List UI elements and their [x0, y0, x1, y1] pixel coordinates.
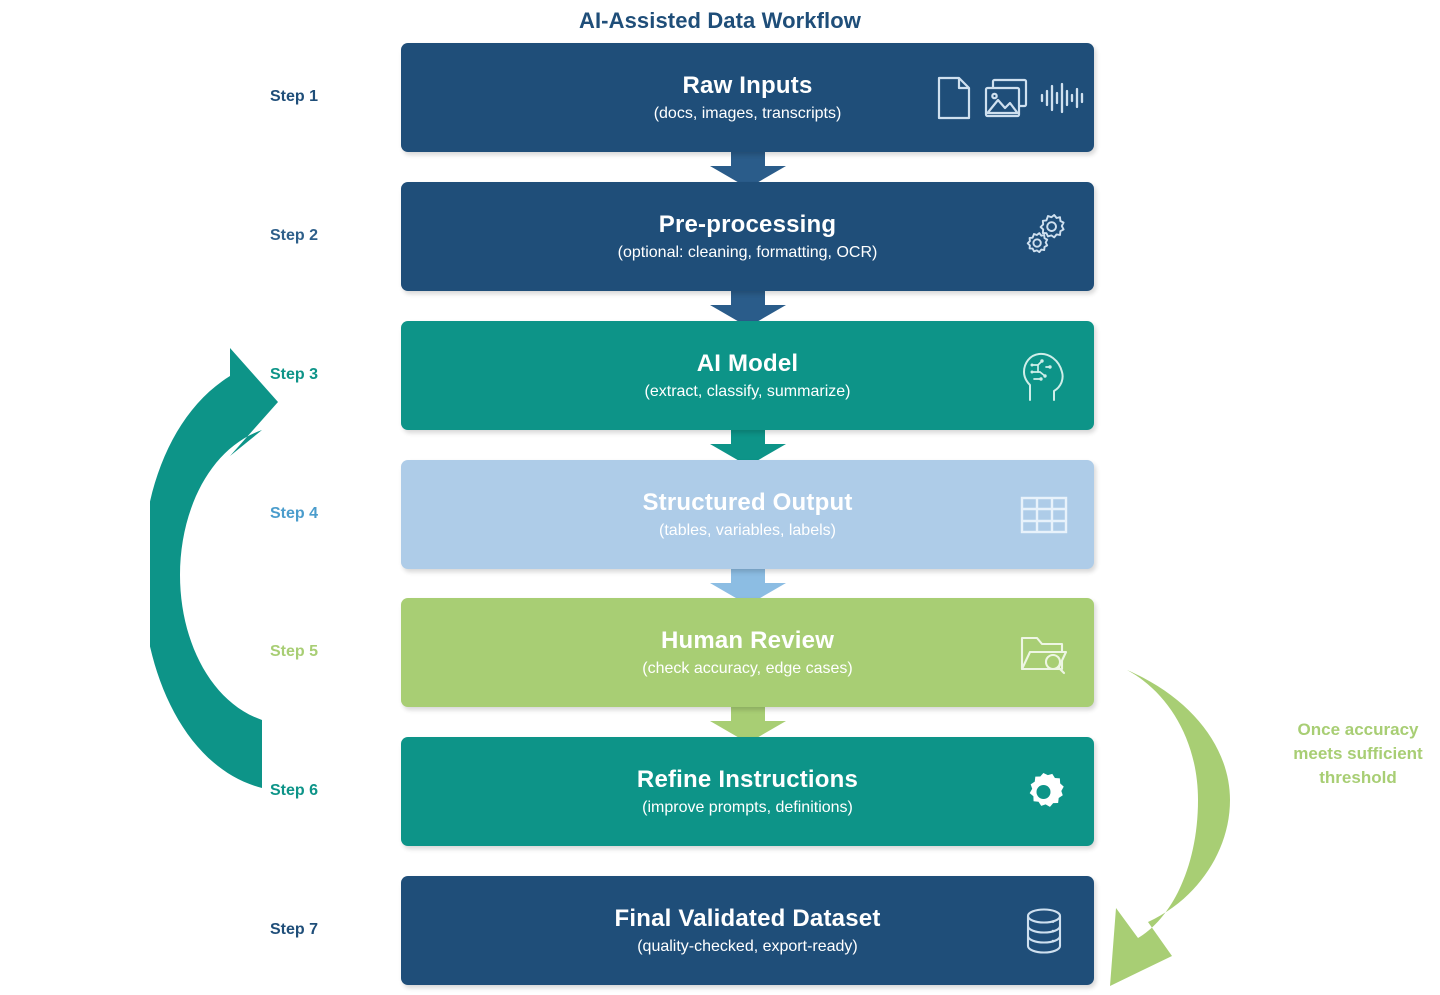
stage-box-human-review[interactable]: Human Review (check accuracy, edge cases…	[401, 598, 1094, 707]
step-label-2: Step 2	[232, 227, 356, 245]
stage-subtitle: (quality-checked, export-ready)	[437, 936, 1058, 958]
stage-subtitle: (extract, classify, summarize)	[437, 381, 1058, 403]
step-label-7: Step 7	[232, 921, 356, 939]
stage-box-pre-processing[interactable]: Pre-processing (optional: cleaning, form…	[401, 182, 1094, 291]
gears-icon	[1018, 211, 1070, 263]
stage-title: Structured Output	[437, 488, 1058, 518]
stage-box-raw-inputs[interactable]: Raw Inputs (docs, images, transcripts)	[401, 43, 1094, 152]
stage-title: Refine Instructions	[437, 765, 1058, 795]
document-icon	[936, 76, 972, 120]
stage-text-block: Structured Output (tables, variables, la…	[401, 488, 1094, 542]
table-grid-icon	[1020, 495, 1068, 535]
stage-subtitle: (optional: cleaning, formatting, OCR)	[437, 242, 1058, 264]
stage-icon-group	[1016, 209, 1072, 265]
stage-text-block: Refine Instructions (improve prompts, de…	[401, 765, 1094, 819]
page-title: AI-Assisted Data Workflow	[0, 8, 1440, 34]
stage-subtitle: (check accuracy, edge cases)	[437, 658, 1058, 680]
stage-subtitle: (tables, variables, labels)	[437, 520, 1058, 542]
stage-text-block: Final Validated Dataset (quality-checked…	[401, 904, 1094, 958]
images-stack-icon	[983, 77, 1029, 119]
gear-solid-icon	[1023, 771, 1065, 813]
diagram-canvas: AI-Assisted Data Workflow Step 1 Step 2 …	[0, 0, 1440, 987]
stage-icon-group	[1016, 625, 1072, 681]
stage-icon-group	[936, 70, 1084, 126]
step-label-1: Step 1	[232, 88, 356, 106]
completion-loop-arrow-shape	[1110, 600, 1275, 995]
stage-icon-group	[1016, 348, 1072, 404]
stage-title: AI Model	[437, 349, 1058, 379]
audio-waveform-icon	[1040, 82, 1084, 114]
stage-box-final-dataset[interactable]: Final Validated Dataset (quality-checked…	[401, 876, 1094, 985]
folder-search-icon	[1019, 630, 1069, 676]
database-icon	[1024, 907, 1064, 955]
stage-icon-group	[1016, 764, 1072, 820]
stage-box-ai-model[interactable]: AI Model (extract, classify, summarize)	[401, 321, 1094, 430]
feedback-loop-arrow	[150, 340, 280, 815]
ai-head-icon	[1020, 350, 1068, 402]
stage-icon-group	[1016, 487, 1072, 543]
stage-subtitle: (improve prompts, definitions)	[437, 797, 1058, 819]
stage-text-block: AI Model (extract, classify, summarize)	[401, 349, 1094, 403]
stage-text-block: Human Review (check accuracy, edge cases…	[401, 626, 1094, 680]
completion-loop-caption: Once accuracy meets sufficient threshold	[1284, 718, 1432, 790]
stage-icon-group	[1016, 903, 1072, 959]
stage-title: Final Validated Dataset	[437, 904, 1058, 934]
stage-text-block: Pre-processing (optional: cleaning, form…	[401, 210, 1094, 264]
stage-box-structured-output[interactable]: Structured Output (tables, variables, la…	[401, 460, 1094, 569]
stage-title: Human Review	[437, 626, 1058, 656]
stage-box-refine-instructions[interactable]: Refine Instructions (improve prompts, de…	[401, 737, 1094, 846]
stage-title: Pre-processing	[437, 210, 1058, 240]
